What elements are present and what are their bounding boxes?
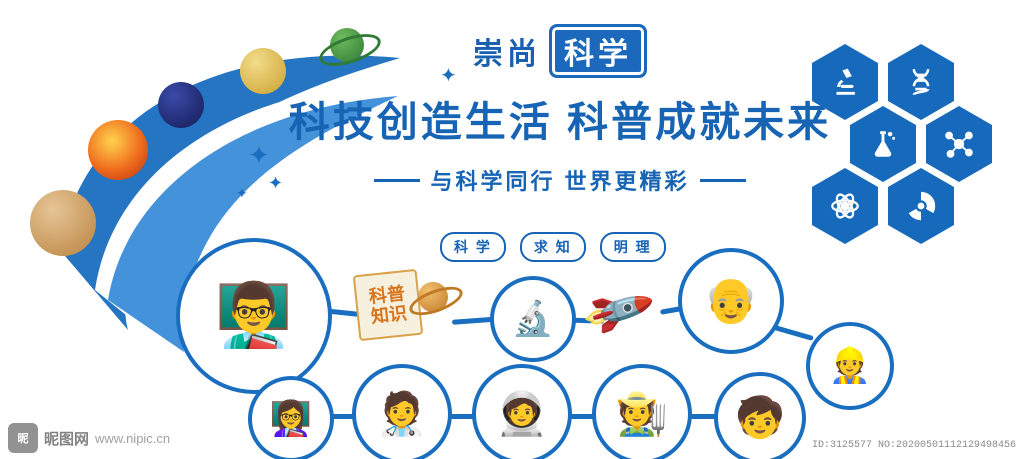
watermark-id-code: ID:3125577 NO:20200501112129498456: [812, 440, 1016, 451]
rocket-icon: 🚀: [578, 271, 658, 349]
watermark-brand: 昵图网: [44, 428, 89, 449]
pill-reason: 明 理: [600, 232, 666, 262]
hex-dna: [888, 44, 954, 120]
hex-microscope: [812, 44, 878, 120]
bubble-child-glyph: 🧒: [735, 398, 785, 438]
hex-atom: [812, 168, 878, 244]
bubble-scientist-teaching: 👨‍🏫: [176, 238, 332, 394]
bubble-astronaut-glyph: 🧑‍🚀: [496, 393, 548, 435]
watermark-badge: 昵: [8, 423, 38, 453]
bubble-elder-glyph: 👴: [704, 279, 759, 323]
hex-molecule: [926, 106, 992, 182]
bubble-elder-judge: 👴: [678, 248, 784, 354]
rocket-illustration: 🚀: [586, 268, 650, 352]
keyword-pills: 科 学 求 知 明 理: [440, 232, 666, 262]
sparkle-icon: ✦: [248, 142, 270, 168]
dna-icon: [904, 65, 938, 99]
sparkle-icon: ✦: [236, 186, 248, 200]
microscope-icon: [828, 65, 862, 99]
bubble-doctors-glyph: 🧑‍⚕️: [376, 393, 428, 435]
watermark: 昵 昵图网 www.nipic.cn: [8, 423, 170, 453]
bubble-classroom-blackboard: 👩‍🏫: [248, 376, 334, 459]
bubble-scientist-glyph: 👨‍🏫: [215, 285, 292, 347]
bubble-microscope-desk: 🔬: [490, 276, 576, 362]
rule-right: [700, 179, 746, 182]
headline-top-row: 崇尚 科学: [280, 28, 840, 74]
headline-block: 崇尚 科学 科技创造生活 科普成就未来 与科学同行 世界更精彩: [280, 28, 840, 196]
hex-flask: [850, 106, 916, 182]
planet-dark-blue: [158, 82, 204, 128]
bubble-worker-glyph: 👷: [829, 349, 871, 383]
radiation-icon: [904, 189, 938, 223]
bubble-classroom-glyph: 👩‍🏫: [270, 402, 312, 436]
bubble-child-globe: 🧒: [714, 372, 806, 459]
flask-icon: [866, 127, 900, 161]
main-slogan: 科技创造生活 科普成就未来: [280, 88, 840, 148]
bubble-microscope-glyph: 🔬: [512, 302, 554, 336]
sub-slogan-row: 与科学同行 世界更精彩: [280, 164, 840, 196]
bubble-farmer: 🧑‍🌾: [592, 364, 692, 459]
bubble-astronaut: 🧑‍🚀: [472, 364, 572, 459]
sticker-knowledge-text: 科普知识: [366, 283, 410, 327]
headline-badge: 科学: [549, 24, 647, 78]
sub-slogan: 与科学同行 世界更精彩: [430, 164, 689, 196]
planet-tan-moon: [30, 190, 96, 256]
bubble-farmer-glyph: 🧑‍🌾: [616, 393, 668, 435]
bubble-worker-cart: 👷: [806, 322, 894, 410]
molecule-icon: [942, 127, 976, 161]
atom-icon: [828, 189, 862, 223]
bubble-doctors: 🧑‍⚕️: [352, 364, 452, 459]
headline-prefix: 崇尚: [473, 29, 541, 73]
watermark-url: www.nipic.cn: [95, 431, 170, 446]
hex-radiation: [888, 168, 954, 244]
hexagon-icon-cluster: [806, 44, 1006, 252]
planet-fire-orange: [88, 120, 148, 180]
rule-left: [374, 179, 420, 182]
pill-science: 科 学: [440, 232, 506, 262]
pill-inquiry: 求 知: [520, 232, 586, 262]
poster-canvas: ✦ ✦ ✦ ✦ 崇尚 科学 科技创造生活 科普成就未来 与科学同行 世界更精彩 …: [0, 0, 1024, 459]
